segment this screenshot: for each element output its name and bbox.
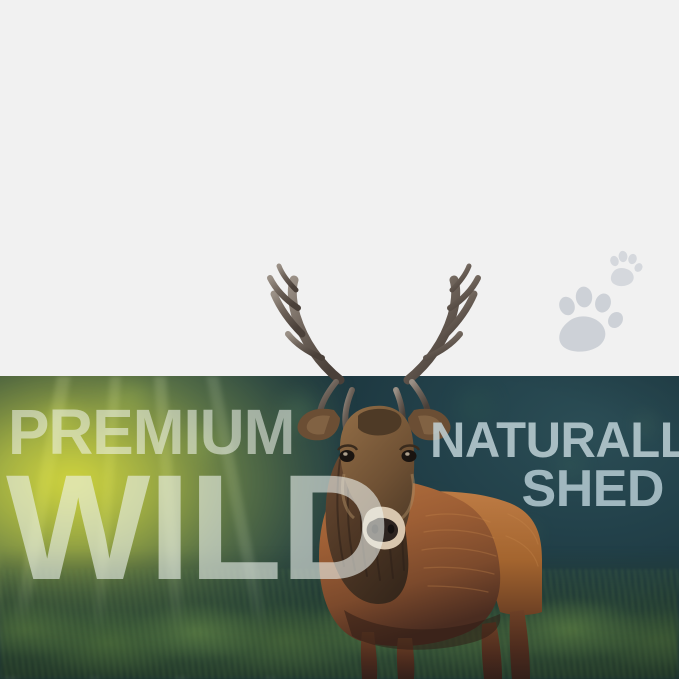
overlay-text-wild: WILD xyxy=(6,452,389,602)
overlay-text-shed: SHED xyxy=(430,463,664,515)
promo-graphic: PREMIUM WILD NATURALLY SHED xyxy=(0,0,679,679)
overlay-text-naturally: NATURALLY xyxy=(430,415,679,465)
paw-print-icon xyxy=(553,282,629,354)
